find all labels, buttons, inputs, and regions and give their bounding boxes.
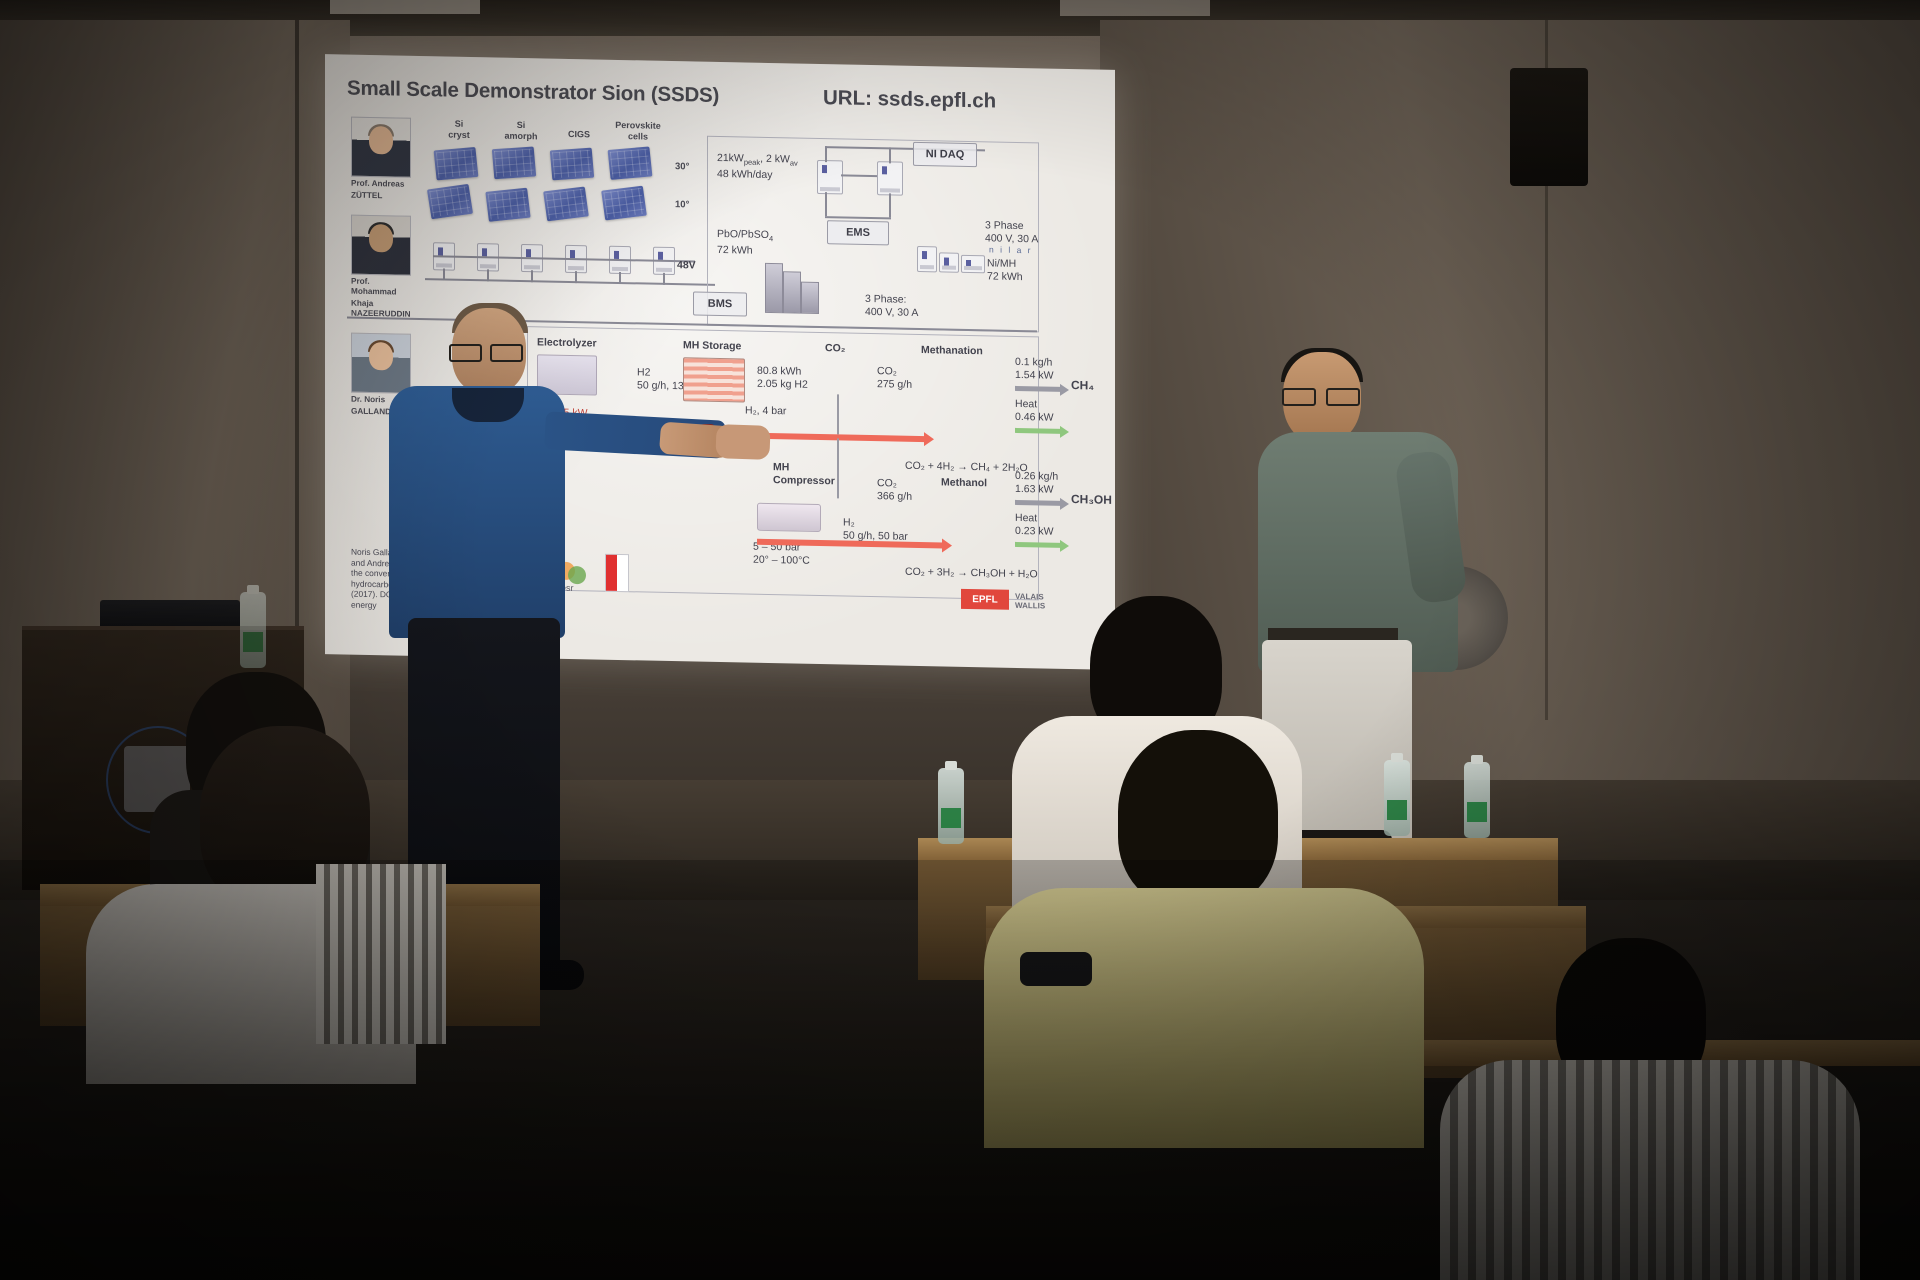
room-shadow [0,860,1920,1280]
water-bottle [1464,762,1490,838]
water-bottle [938,768,964,844]
lecture-hall-photo: Small Scale Demonstrator Sion (SSDS) URL… [0,0,1920,1280]
man-glasses [1282,388,1360,402]
presenter-pointing-hand [715,424,770,460]
water-bottle [240,592,266,668]
wall-speaker [1510,68,1588,186]
presenter-torso [389,386,565,638]
ceiling-panel-left [330,0,480,14]
water-bottle [1384,760,1410,836]
presenter-glasses [449,344,523,358]
presenter-collar [452,388,524,422]
ceiling-panel-right [1060,0,1210,16]
